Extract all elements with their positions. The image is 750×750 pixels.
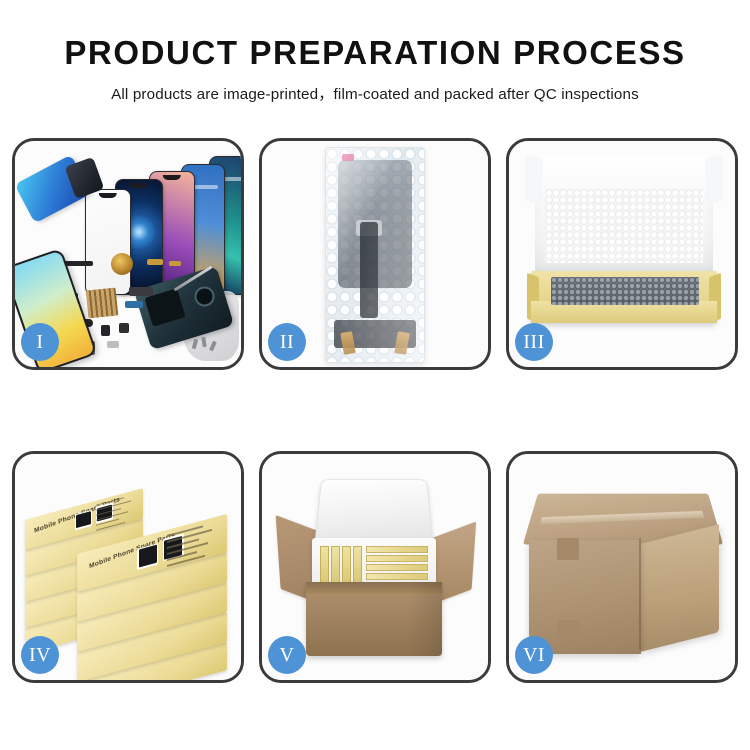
step-badge-1: I — [21, 323, 59, 361]
speaker-coil-part — [111, 253, 133, 275]
step-panel-6[interactable]: VI — [506, 451, 738, 683]
carton-edge — [639, 538, 641, 650]
small-part-g — [101, 325, 110, 336]
gold-connector-part — [169, 261, 181, 266]
step-panel-4[interactable]: Mobile Phone Spare Parts M — [12, 451, 244, 683]
phone-screen-1 — [85, 189, 131, 295]
white-foam-pad — [545, 189, 703, 263]
step-panel-2[interactable]: II — [259, 138, 491, 370]
header: PRODUCT PREPARATION PROCESS All products… — [0, 0, 750, 104]
step-panel-3[interactable]: III — [506, 138, 738, 370]
steps-grid: I II — [12, 138, 738, 683]
page-title: PRODUCT PREPARATION PROCESS — [0, 36, 750, 71]
gold-flex-part — [147, 259, 163, 265]
grey-foam-padding — [551, 277, 699, 305]
carton-body — [306, 582, 442, 656]
carton-front-face — [529, 540, 641, 654]
plastic-sheen — [326, 148, 424, 362]
small-part-j — [125, 301, 143, 308]
step-panel-1[interactable]: I — [12, 138, 244, 370]
flex-strip-part — [63, 261, 93, 266]
bubble-wrap-bag — [325, 147, 425, 363]
page-subtitle: All products are image-printed，film-coat… — [0, 82, 750, 104]
step-badge-3: III — [515, 323, 553, 361]
product-preparation-infographic: PRODUCT PREPARATION PROCESS All products… — [0, 0, 750, 750]
foam-cooler-lid — [315, 479, 434, 543]
step-badge-6: VI — [515, 636, 553, 674]
connector-grid-part — [86, 288, 119, 319]
small-part-i — [129, 287, 153, 296]
step-badge-5: V — [268, 636, 306, 674]
small-part-k — [107, 341, 119, 348]
packing-tape — [540, 511, 704, 524]
small-part-h — [119, 323, 129, 333]
step-badge-2: II — [268, 323, 306, 361]
step-badge-4: IV — [21, 636, 59, 674]
screws-group — [193, 337, 219, 355]
step-panel-5[interactable]: V — [259, 451, 491, 683]
carton-side-face — [641, 524, 719, 651]
